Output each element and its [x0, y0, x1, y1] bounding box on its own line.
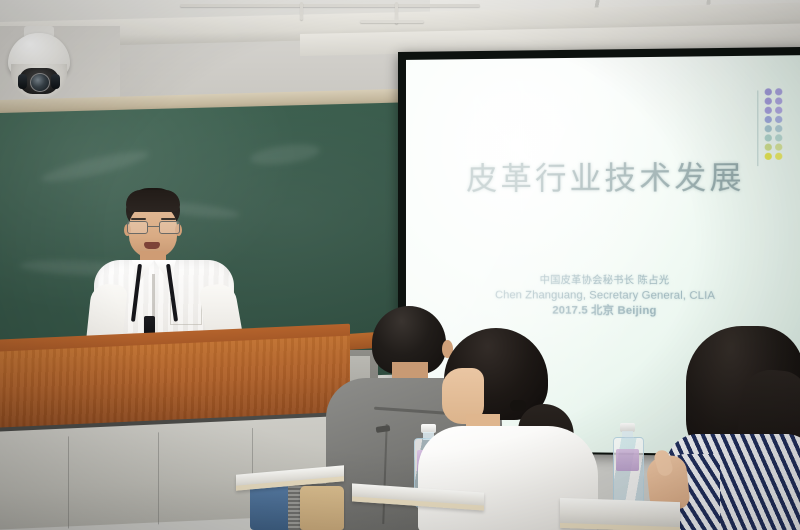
decoration-dot-10: [775, 125, 782, 132]
decoration-dot-15: [765, 153, 772, 160]
decoration-dot-4: [775, 97, 782, 104]
presenter-mouth: [144, 242, 160, 249]
bottle-body-right: [613, 437, 644, 507]
camera-dome: [11, 64, 67, 100]
decoration-dot-13: [765, 144, 772, 151]
presenter-brow-right: [161, 218, 176, 220]
slide-subtitle-line-2: Chen Zhanguang, Secretary General, CLIA: [406, 288, 800, 304]
decoration-dot-6: [775, 107, 782, 114]
ceiling-pipe-branch: [360, 20, 424, 23]
slide-subtitle-line-1: 中国皮革协会秘书长 陈占光: [406, 273, 800, 289]
bottle-label-right: [616, 449, 639, 471]
decoration-dot-1: [765, 88, 772, 95]
camera-lens-icon: [30, 73, 50, 92]
decoration-dot-9: [765, 125, 772, 132]
hair-tie-icon: [510, 400, 526, 411]
security-camera-icon: [8, 26, 70, 104]
decoration-dot-14: [775, 143, 782, 150]
slide-decoration-dots: [765, 88, 785, 161]
slide-decoration-dot-grid: [757, 88, 799, 166]
slide-decoration-rule: [757, 90, 758, 166]
decoration-dot-12: [775, 134, 782, 141]
lecture-hall-photo: 皮革行业技术发展 中国皮革协会秘书长 陈占光 Chen Zhanguang, S…: [0, 0, 800, 530]
ceiling-pipe-hanger-left: [300, 2, 303, 20]
camera-ir-right: [51, 74, 60, 89]
presenter-hair-front: [126, 190, 180, 212]
decoration-dot-2: [775, 88, 782, 95]
camera-ir-left: [18, 74, 27, 89]
presenter-brow-left: [131, 218, 146, 220]
decoration-dot-11: [765, 134, 772, 141]
decoration-dot-3: [765, 97, 772, 104]
decoration-dot-5: [765, 107, 772, 114]
ceiling-pipe-horizontal: [180, 4, 480, 7]
slide-title: 皮革行业技术发展: [406, 152, 800, 199]
decoration-dot-16: [775, 153, 782, 160]
chair-back: [300, 486, 344, 530]
glasses-icon: [127, 221, 179, 233]
student-desk-far-right: [560, 498, 680, 530]
decoration-dot-8: [775, 116, 782, 123]
decoration-dot-7: [765, 116, 772, 123]
audience-woman-striped: [660, 330, 800, 530]
